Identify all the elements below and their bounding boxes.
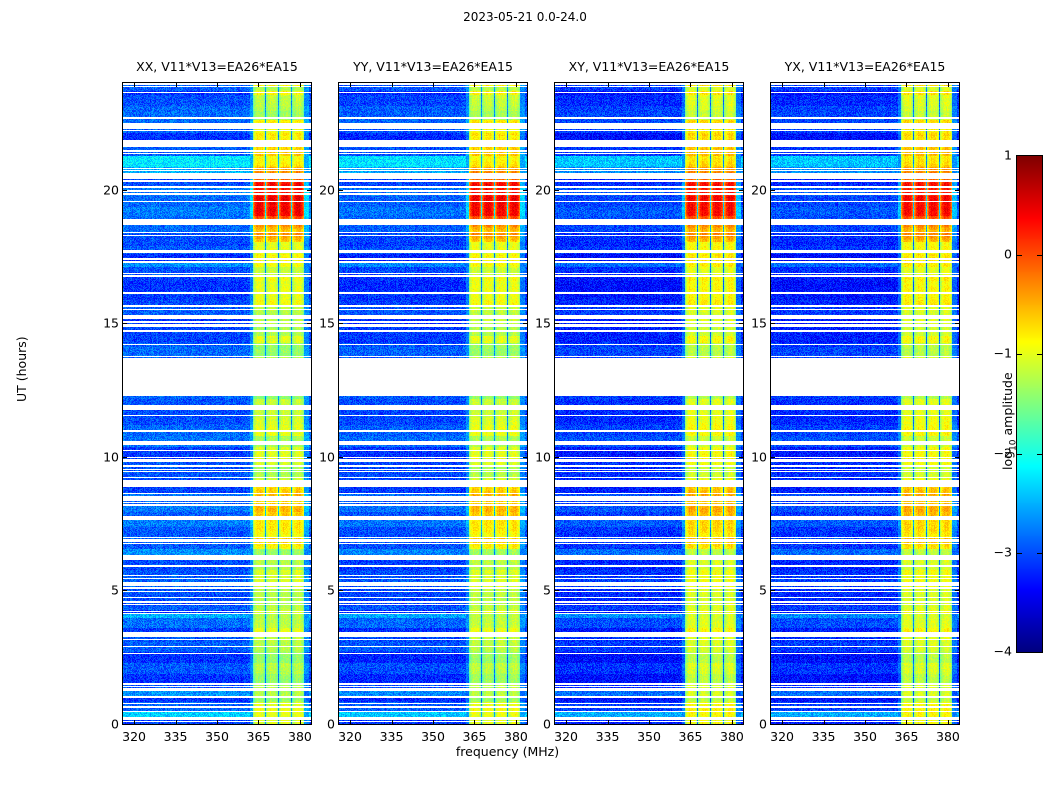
x-tick-mark xyxy=(906,720,907,724)
y-tick-label: 5 xyxy=(759,583,767,598)
y-tick-mark-right xyxy=(955,457,959,458)
x-tick-mark-top xyxy=(134,83,135,87)
x-tick-mark xyxy=(948,720,949,724)
x-tick-label: 335 xyxy=(596,729,620,744)
spectrogram-image-yx xyxy=(771,83,959,724)
spectrogram-image-yy xyxy=(339,83,527,724)
x-tick-label: 320 xyxy=(338,729,362,744)
x-tick-mark-top xyxy=(566,83,567,87)
y-tick-mark-right xyxy=(523,724,527,725)
y-tick-labels-yy: 05101520 xyxy=(295,83,335,724)
x-tick-mark xyxy=(392,720,393,724)
x-tick-mark xyxy=(350,720,351,724)
x-tick-mark-top xyxy=(433,83,434,87)
y-tick-mark xyxy=(771,190,775,191)
x-tick-mark-top xyxy=(649,83,650,87)
y-axis-label: UT (hours) xyxy=(14,336,29,402)
colorbar-axis-label: log10 amplitude xyxy=(1000,372,1019,470)
x-tick-mark-top xyxy=(217,83,218,87)
x-tick-mark xyxy=(217,720,218,724)
y-tick-label: 15 xyxy=(751,316,767,331)
y-tick-mark-right xyxy=(955,590,959,591)
y-tick-label: 0 xyxy=(327,717,335,732)
colorbar-tick-label: −1 xyxy=(994,346,1012,361)
y-tick-mark-right xyxy=(307,724,311,725)
y-tick-label: 0 xyxy=(111,717,119,732)
y-tick-mark xyxy=(123,724,127,725)
x-tick-label: 350 xyxy=(853,729,877,744)
x-tick-label: 350 xyxy=(637,729,661,744)
y-tick-mark-right xyxy=(955,190,959,191)
y-tick-mark xyxy=(555,724,559,725)
x-tick-label: 380 xyxy=(288,729,312,744)
y-tick-mark xyxy=(771,457,775,458)
x-tick-mark-top xyxy=(906,83,907,87)
x-tick-mark xyxy=(865,720,866,724)
y-tick-mark xyxy=(555,190,559,191)
spectrogram-panel-yx[interactable]: YX, V11*V13=EA26*EA15 320335350365380 05… xyxy=(770,82,960,725)
x-tick-label: 320 xyxy=(122,729,146,744)
y-tick-label: 10 xyxy=(751,449,767,464)
x-tick-mark-top xyxy=(690,83,691,87)
y-tick-labels-xy: 05101520 xyxy=(511,83,551,724)
x-tick-mark xyxy=(566,720,567,724)
x-tick-mark-top xyxy=(392,83,393,87)
y-tick-label: 5 xyxy=(111,583,119,598)
x-tick-mark xyxy=(176,720,177,724)
y-tick-mark xyxy=(123,323,127,324)
colorbar-tick-label: 0 xyxy=(1004,247,1012,262)
x-tick-mark-top xyxy=(865,83,866,87)
x-tick-mark xyxy=(433,720,434,724)
x-tick-label: 320 xyxy=(554,729,578,744)
y-tick-mark-right xyxy=(955,323,959,324)
x-tick-label: 335 xyxy=(380,729,404,744)
panel-title-yx: YX, V11*V13=EA26*EA15 xyxy=(755,59,975,74)
y-tick-label: 20 xyxy=(751,182,767,197)
y-tick-label: 5 xyxy=(327,583,335,598)
y-tick-mark xyxy=(123,590,127,591)
y-tick-labels-xx: 05101520 xyxy=(79,83,119,724)
x-tick-mark xyxy=(474,720,475,724)
x-tick-mark-top xyxy=(608,83,609,87)
y-tick-mark xyxy=(555,457,559,458)
x-tick-mark-top xyxy=(258,83,259,87)
spectrogram-panel-xy[interactable]: XY, V11*V13=EA26*EA15 320335350365380 05… xyxy=(554,82,744,725)
x-tick-label: 380 xyxy=(936,729,960,744)
spectrogram-image-xx xyxy=(123,83,311,724)
y-tick-label: 0 xyxy=(543,717,551,732)
y-tick-mark xyxy=(123,190,127,191)
y-tick-mark xyxy=(555,323,559,324)
x-tick-label: 350 xyxy=(205,729,229,744)
x-tick-mark xyxy=(258,720,259,724)
y-tick-mark-right xyxy=(739,724,743,725)
panel-title-xy: XY, V11*V13=EA26*EA15 xyxy=(539,59,759,74)
x-tick-mark-top xyxy=(176,83,177,87)
y-tick-mark xyxy=(555,590,559,591)
x-tick-label: 380 xyxy=(504,729,528,744)
x-tick-mark xyxy=(134,720,135,724)
x-tick-label: 380 xyxy=(720,729,744,744)
x-tick-mark-top xyxy=(824,83,825,87)
spectrogram-image-xy xyxy=(555,83,743,724)
y-tick-mark xyxy=(771,590,775,591)
x-axis-label: frequency (MHz) xyxy=(0,744,1015,759)
spectrogram-panel-yy[interactable]: YY, V11*V13=EA26*EA15 320335350365380 05… xyxy=(338,82,528,725)
x-tick-mark xyxy=(649,720,650,724)
colorbar-label-subscript: 10 xyxy=(1009,439,1019,450)
y-tick-label: 15 xyxy=(535,316,551,331)
x-tick-label: 320 xyxy=(770,729,794,744)
panel-title-yy: YY, V11*V13=EA26*EA15 xyxy=(323,59,543,74)
x-tick-label: 335 xyxy=(812,729,836,744)
y-tick-label: 20 xyxy=(535,182,551,197)
x-tick-mark xyxy=(608,720,609,724)
y-tick-label: 10 xyxy=(319,449,335,464)
y-tick-mark xyxy=(339,724,343,725)
y-tick-label: 20 xyxy=(319,182,335,197)
x-tick-label: 350 xyxy=(421,729,445,744)
y-tick-label: 10 xyxy=(535,449,551,464)
panel-title-xx: XX, V11*V13=EA26*EA15 xyxy=(107,59,327,74)
colorbar-tick-labels: −4−3−2−101 xyxy=(1016,155,1041,651)
x-tick-mark xyxy=(690,720,691,724)
x-tick-mark xyxy=(782,720,783,724)
x-tick-label: 335 xyxy=(164,729,188,744)
y-tick-label: 20 xyxy=(103,182,119,197)
y-tick-label: 5 xyxy=(543,583,551,598)
y-tick-mark xyxy=(123,457,127,458)
colorbar-label-tail: amplitude xyxy=(1000,372,1015,439)
y-tick-mark xyxy=(771,724,775,725)
x-tick-mark xyxy=(824,720,825,724)
x-tick-label: 365 xyxy=(463,729,487,744)
y-tick-label: 15 xyxy=(319,316,335,331)
figure-canvas: 2023-05-21 0.0-24.0 XX, V11*V13=EA26*EA1… xyxy=(0,0,1050,800)
x-tick-mark-top xyxy=(474,83,475,87)
x-tick-label: 365 xyxy=(247,729,271,744)
x-tick-label: 365 xyxy=(895,729,919,744)
y-tick-label: 10 xyxy=(103,449,119,464)
y-tick-mark xyxy=(339,590,343,591)
y-tick-label: 0 xyxy=(759,717,767,732)
y-tick-labels-yx: 05101520 xyxy=(727,83,767,724)
figure-suptitle: 2023-05-21 0.0-24.0 xyxy=(0,10,1050,24)
y-tick-mark-right xyxy=(955,724,959,725)
y-tick-mark xyxy=(771,323,775,324)
colorbar-label-text: log xyxy=(1000,451,1015,470)
spectrogram-panel-xx[interactable]: XX, V11*V13=EA26*EA15 320335350365380 05… xyxy=(122,82,312,725)
y-tick-mark xyxy=(339,457,343,458)
x-tick-label: 365 xyxy=(679,729,703,744)
x-tick-mark-top xyxy=(782,83,783,87)
colorbar-tick-label: −3 xyxy=(994,544,1012,559)
colorbar-tick-label: −4 xyxy=(994,644,1012,659)
x-tick-mark-top xyxy=(948,83,949,87)
x-tick-mark-top xyxy=(350,83,351,87)
colorbar-tick-label: 1 xyxy=(1004,148,1012,163)
y-tick-label: 15 xyxy=(103,316,119,331)
y-tick-mark xyxy=(339,323,343,324)
y-tick-mark xyxy=(339,190,343,191)
